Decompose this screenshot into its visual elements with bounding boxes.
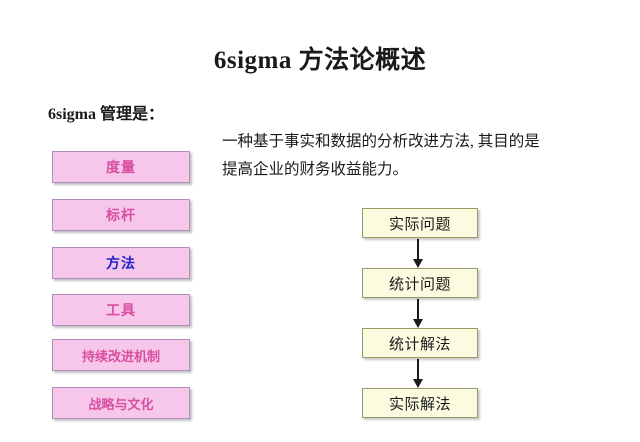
arrow-down-icon-0: [411, 239, 425, 269]
pink-box-label: 度量: [106, 157, 136, 177]
pink-box-item-5: 战略与文化: [52, 387, 190, 419]
pink-box-label: 战略与文化: [88, 394, 153, 413]
description-line-1: 一种基于事实和数据的分析改进方法, 其目的是: [222, 128, 590, 156]
pink-box-label: 标杆: [106, 205, 136, 225]
pink-box-item-4: 持续改进机制: [52, 339, 190, 371]
pink-box-label: 工具: [106, 300, 136, 320]
arrow-down-icon-2: [411, 359, 425, 389]
flow-box-label: 统计问题: [389, 273, 451, 294]
page-title: 6sigma 方法论概述: [0, 40, 640, 76]
pink-box-item-3: 工具: [52, 294, 190, 326]
description-line-2: 提高企业的财务收益能力。: [222, 156, 590, 184]
pink-box-item-0: 度量: [52, 151, 190, 183]
left-heading: 6sigma 管理是：: [48, 100, 164, 124]
pink-box-label: 方法: [106, 253, 136, 273]
pink-box-label: 持续改进机制: [82, 346, 160, 365]
arrow-down-icon-1: [411, 299, 425, 329]
flow-box-item-2: 统计解法: [362, 328, 478, 358]
flow-box-label: 实际问题: [389, 213, 451, 234]
pink-box-item-1: 标杆: [52, 199, 190, 231]
flow-box-label: 实际解法: [389, 393, 451, 414]
description-paragraph: 一种基于事实和数据的分析改进方法, 其目的是 提高企业的财务收益能力。: [222, 128, 590, 184]
flow-box-item-0: 实际问题: [362, 208, 478, 238]
flow-box-item-3: 实际解法: [362, 388, 478, 418]
pink-box-item-2: 方法: [52, 247, 190, 279]
flow-box-label: 统计解法: [389, 333, 451, 354]
slide-canvas: 6sigma 方法论概述 6sigma 管理是： 度量 标杆 方法 工具 持续改…: [0, 0, 640, 442]
flow-box-item-1: 统计问题: [362, 268, 478, 298]
